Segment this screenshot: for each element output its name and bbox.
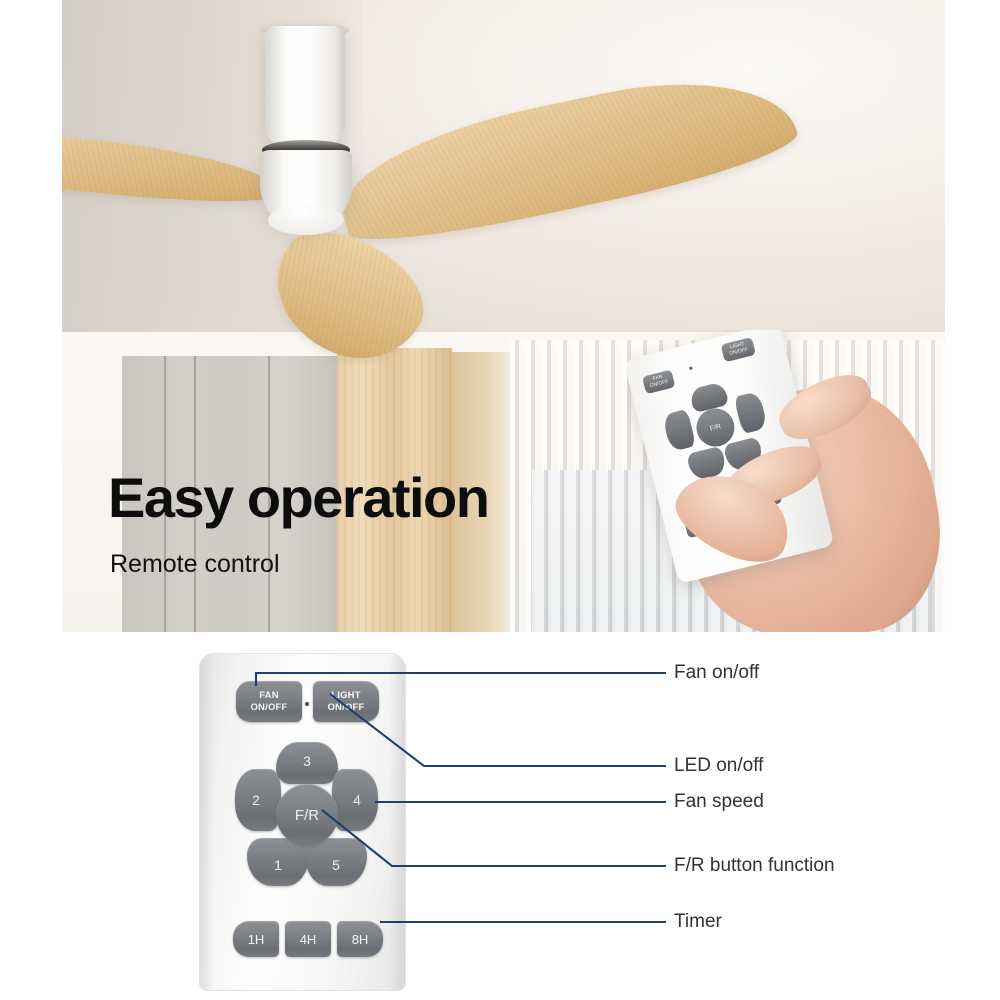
hero-subtitle: Remote control — [110, 550, 280, 579]
callout-label-fan-onoff: Fan on/off — [674, 662, 759, 684]
remote-diagram-section: FAN ON/OFF LIGHT ON/OFF 3 2 4 1 5 F/R 1H… — [0, 634, 1000, 1000]
hero-product-photo: FANON/OFF LIGHTON/OFF F/R 1H 4H 8H Easy … — [62, 0, 945, 632]
callout-lines — [0, 634, 1000, 1000]
hero-title: Easy operation — [108, 470, 488, 526]
callout-line-fan-onoff — [256, 673, 666, 686]
callout-line-led-onoff — [330, 694, 666, 766]
callout-label-fr-function: F/R button function — [674, 855, 835, 877]
callout-label-fan-speed: Fan speed — [674, 791, 764, 813]
fan-downrod — [265, 26, 345, 151]
callout-label-led-onoff: LED on/off — [674, 755, 763, 777]
hand-holding-remote: FANON/OFF LIGHTON/OFF F/R 1H 4H 8H — [627, 330, 945, 632]
fan-led-light — [268, 205, 344, 235]
callout-label-timer: Timer — [674, 911, 722, 933]
callout-line-fr-function — [322, 810, 666, 866]
